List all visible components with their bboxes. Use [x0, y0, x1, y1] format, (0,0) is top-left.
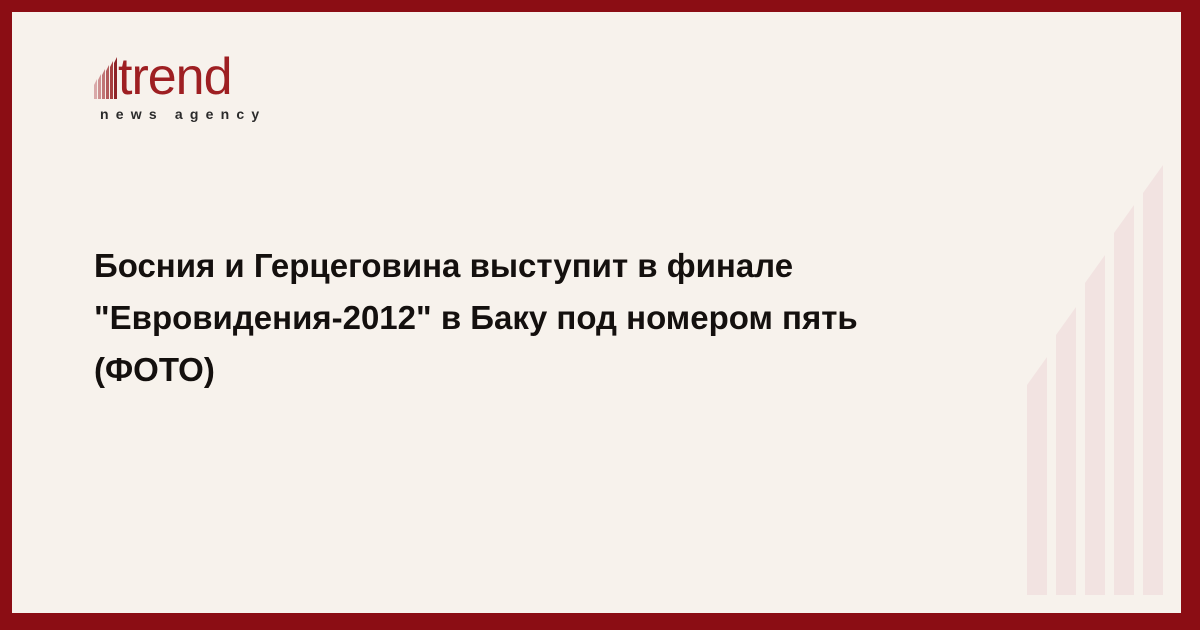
- logo-bar-6: [114, 57, 117, 99]
- decor-bar-slant: [1143, 165, 1163, 193]
- logo-bar-4: [106, 65, 109, 99]
- decor-bar-3: [1085, 255, 1105, 595]
- logo-bar-slant: [94, 79, 97, 85]
- decor-bar-1: [1027, 357, 1047, 595]
- logo-bar-1: [94, 79, 97, 99]
- logo-bar-slant: [106, 65, 109, 71]
- decor-bar-2: [1056, 307, 1076, 595]
- logo-bar-5: [110, 61, 113, 99]
- logo-bar-2: [98, 74, 101, 99]
- decor-bar-slant: [1114, 205, 1134, 233]
- social-card-frame: trend news agency Босния и Герцеговина в…: [0, 0, 1200, 630]
- logo-bar-slant: [114, 57, 117, 63]
- logo-bar-slant: [102, 69, 105, 75]
- ascending-bars-icon: [94, 57, 117, 99]
- trend-news-agency-logo[interactable]: trend news agency: [94, 48, 424, 122]
- decor-bar-4: [1114, 205, 1134, 595]
- decor-bar-slant: [1027, 357, 1047, 385]
- logo-wordmark: trend: [118, 56, 232, 100]
- decor-bar-5: [1143, 165, 1163, 595]
- logo-bar-slant: [110, 61, 113, 67]
- headline-line-3: (ФОТО): [94, 344, 994, 396]
- headline-line-2: "Евровидения-2012" в Баку под номером пя…: [94, 292, 994, 344]
- decor-bar-slant: [1056, 307, 1076, 335]
- logo-bar-3: [102, 69, 105, 99]
- ascending-bars-graphic: [1027, 165, 1179, 595]
- page-title: Босния и Герцеговина выступит в финале "…: [94, 240, 994, 396]
- logo-wordmark-row: trend: [94, 48, 424, 100]
- decor-bar-slant: [1085, 255, 1105, 283]
- logo-tagline: news agency: [100, 106, 424, 122]
- headline-line-1: Босния и Герцеговина выступит в финале: [94, 240, 994, 292]
- social-card-body: trend news agency Босния и Герцеговина в…: [12, 12, 1181, 613]
- logo-bar-slant: [98, 74, 101, 80]
